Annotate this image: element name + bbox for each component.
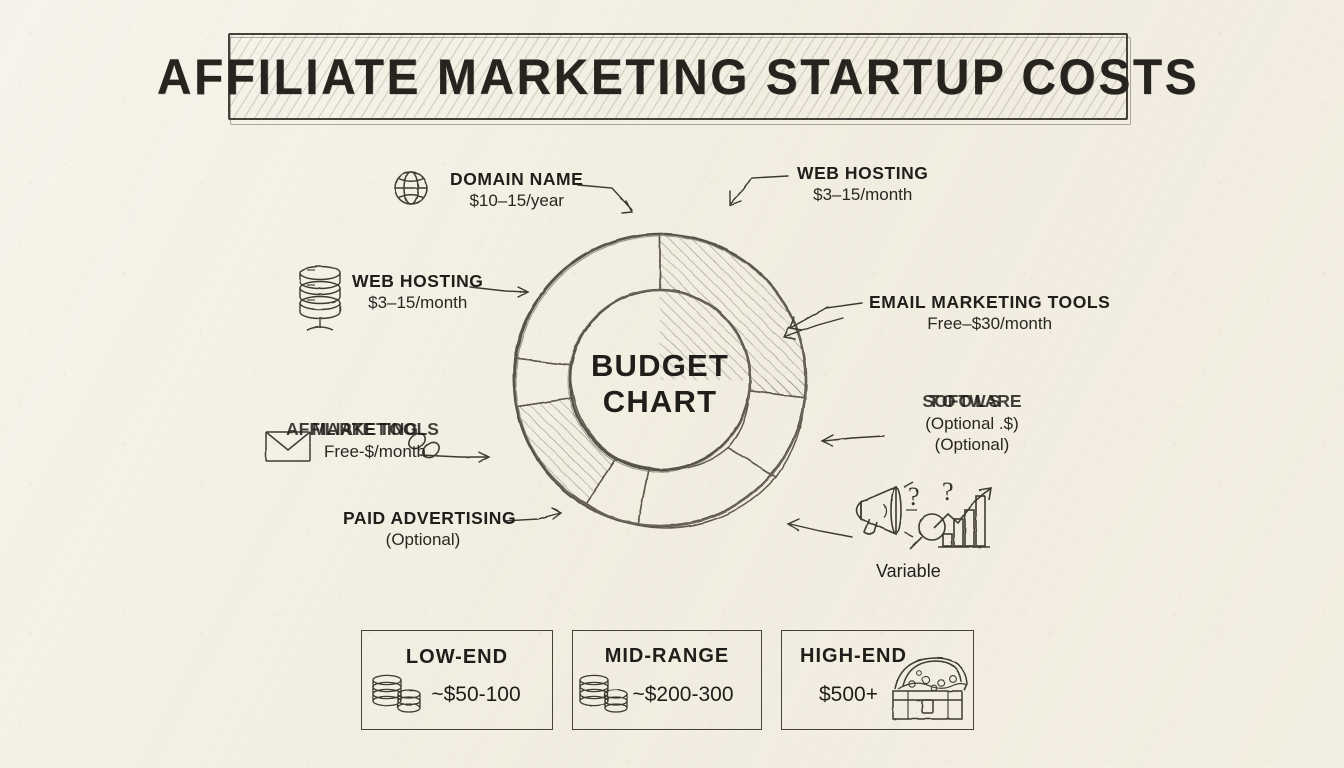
callout-web-hosting-right-value: $3–15/month bbox=[797, 184, 928, 205]
callout-software[interactable]: SOFTWARE TOOLS (Optional .$) (Optional) bbox=[884, 392, 1060, 456]
server-stack-icon bbox=[300, 267, 340, 331]
page-title: AFFILIATE MARKETING STARTUP COSTS bbox=[246, 33, 1110, 120]
question-mark-icons: ? ? bbox=[908, 477, 954, 511]
callout-web-hosting-right-title: WEB HOSTING bbox=[797, 164, 928, 184]
tier-low-end-title: LOW-END bbox=[362, 646, 552, 669]
callout-affiliate-value: Free-$/month bbox=[314, 441, 436, 462]
tier-high-end-amount: $500+ bbox=[724, 683, 973, 707]
donut-slice-software[interactable] bbox=[638, 448, 777, 528]
callout-web-hosting-right[interactable]: WEB HOSTING $3–15/month bbox=[797, 164, 928, 205]
callout-affiliate-tools[interactable]: AFFILIATE TOOLS MARKETING Free-$/month bbox=[286, 420, 436, 462]
tier-high-end-title: HIGH-END bbox=[734, 645, 973, 668]
donut-center-line-1: BUDGET bbox=[540, 348, 780, 384]
callout-email-marketing-tools-value: Free–$30/month bbox=[869, 313, 1110, 334]
callout-domain-name-value: $10–15/year bbox=[450, 190, 583, 211]
donut-center-label: BUDGET CHART bbox=[540, 348, 780, 421]
callout-software-value-under: (Optional .$) bbox=[884, 413, 1060, 434]
callout-web-hosting-left-title: WEB HOSTING bbox=[352, 272, 483, 292]
globe-icon bbox=[395, 172, 427, 204]
tier-low-end-amount: ~$50-100 bbox=[400, 683, 552, 707]
donut-center-line-2: CHART bbox=[540, 384, 780, 420]
callout-web-hosting-left-value: $3–15/month bbox=[352, 292, 483, 313]
tier-box-high-end[interactable]: HIGH-END $500+ bbox=[781, 630, 974, 730]
callout-software-value-over: (Optional) bbox=[884, 434, 1060, 455]
callout-email-marketing-tools-title: EMAIL MARKETING TOOLS bbox=[869, 293, 1110, 313]
tier-mid-range-title: MID-RANGE bbox=[573, 645, 761, 668]
callout-paid-advertising-title: PAID ADVERTISING bbox=[343, 509, 503, 529]
callout-paid-advertising-value: (Optional) bbox=[343, 529, 503, 550]
tier-box-low-end[interactable]: LOW-END ~$50-100 bbox=[361, 630, 553, 730]
svg-text:?: ? bbox=[942, 477, 954, 506]
callout-email-marketing-tools[interactable]: EMAIL MARKETING TOOLS Free–$30/month bbox=[869, 293, 1110, 334]
callout-domain-name-title: DOMAIN NAME bbox=[450, 170, 583, 190]
callout-software-title-over: TOOLS bbox=[878, 392, 1054, 412]
callout-web-hosting-left[interactable]: WEB HOSTING $3–15/month bbox=[352, 272, 483, 313]
variable-caption: Variable bbox=[876, 561, 941, 582]
title-banner: AFFILIATE MARKETING STARTUP COSTS bbox=[228, 33, 1128, 120]
callout-affiliate-title-over: MARKETING bbox=[312, 420, 462, 440]
callout-paid-advertising[interactable]: PAID ADVERTISING (Optional) bbox=[343, 509, 503, 550]
svg-text:?: ? bbox=[908, 482, 920, 511]
callout-domain-name[interactable]: DOMAIN NAME $10–15/year bbox=[450, 170, 583, 211]
